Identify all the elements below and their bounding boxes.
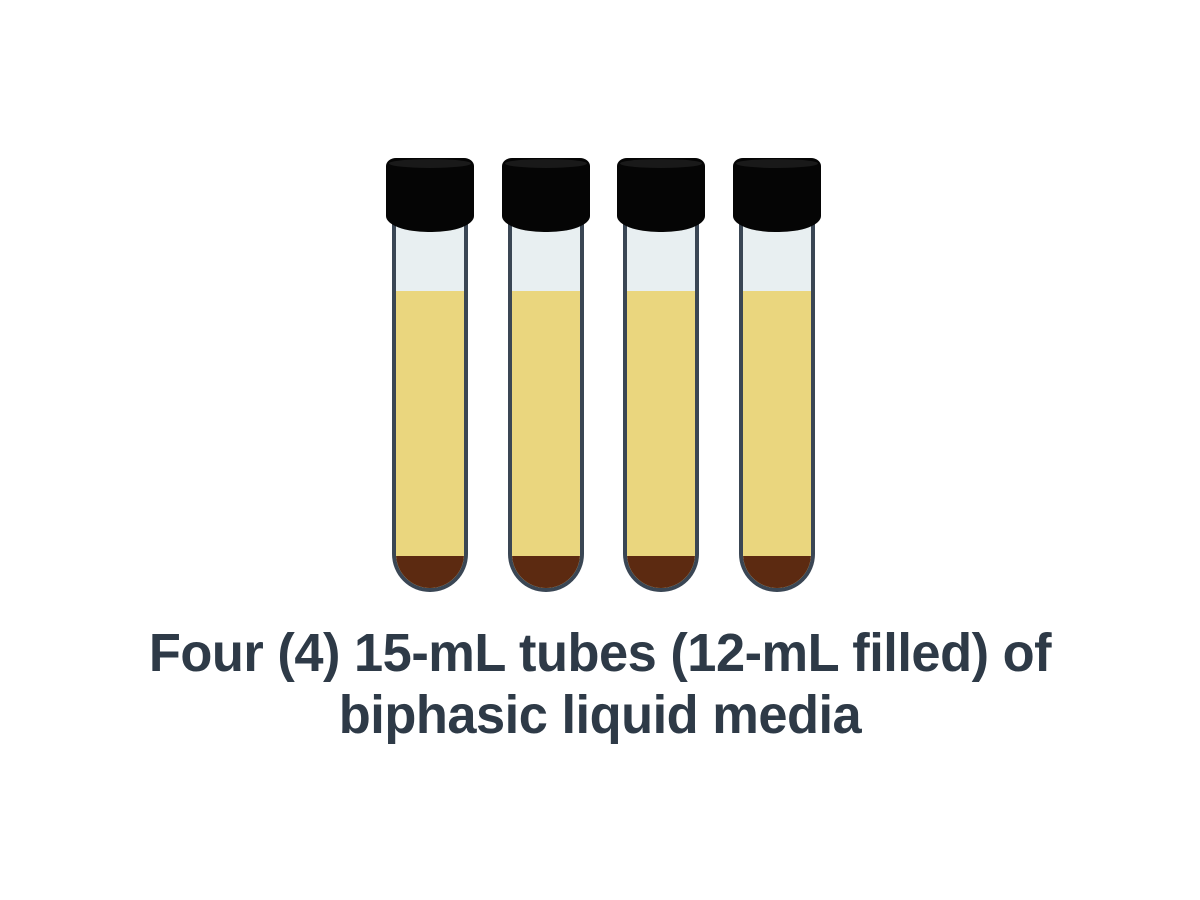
tube-glass-body: [392, 218, 468, 592]
cap-top-sheen: [505, 159, 587, 168]
liquid-phase-layer: [512, 291, 580, 588]
tube-3: [617, 158, 705, 592]
caption-line-2: biphasic liquid media: [76, 684, 1124, 746]
tube-glass-body: [623, 218, 699, 592]
biphasic-media-tubes-figure: Four (4) 15-mL tubes (12-mL filled) of b…: [0, 0, 1200, 900]
tube-rack: [0, 0, 1200, 620]
cap-top-sheen: [620, 159, 702, 168]
cap-top-sheen: [389, 159, 471, 168]
tube-2: [502, 158, 590, 592]
tube-cap-icon: [617, 158, 705, 232]
tube-cap-icon: [733, 158, 821, 232]
figure-caption: Four (4) 15-mL tubes (12-mL filled) of b…: [76, 622, 1124, 746]
tube-cap-icon: [386, 158, 474, 232]
solid-phase-layer: [510, 556, 582, 590]
tube-4: [733, 158, 821, 592]
solid-phase-layer: [625, 556, 697, 590]
solid-phase-layer: [741, 556, 813, 590]
tube-glass-body: [508, 218, 584, 592]
tube-1: [386, 158, 474, 592]
liquid-phase-layer: [627, 291, 695, 588]
tube-glass-body: [739, 218, 815, 592]
solid-phase-layer: [394, 556, 466, 590]
caption-line-1: Four (4) 15-mL tubes (12-mL filled) of: [76, 622, 1124, 684]
liquid-phase-layer: [743, 291, 811, 588]
liquid-phase-layer: [396, 291, 464, 588]
tube-cap-icon: [502, 158, 590, 232]
cap-top-sheen: [736, 159, 818, 168]
